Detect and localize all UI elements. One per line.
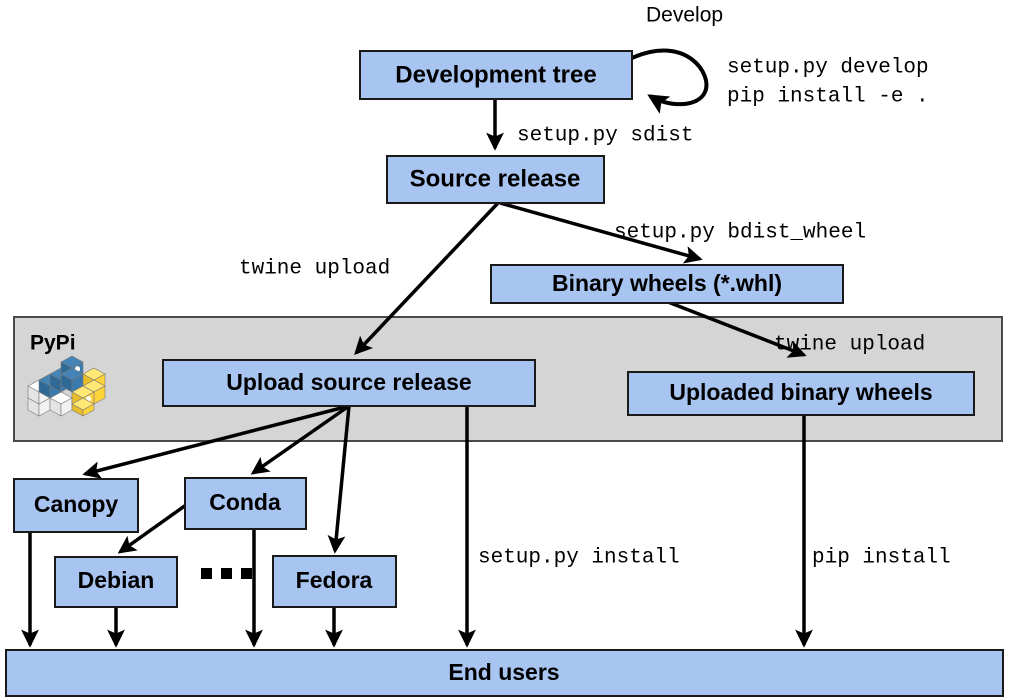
pypi-panel-label: PyPi: [30, 332, 76, 355]
node-conda[interactable]: Conda: [185, 478, 306, 529]
node-end-users[interactable]: End users: [6, 650, 1003, 696]
node-uploaded-binary-wheels-label: Uploaded binary wheels: [669, 379, 932, 405]
node-upload-source-release[interactable]: Upload source release: [163, 360, 535, 406]
ellipsis-indicator: [201, 568, 252, 579]
edge-label-setup-py-sdist: setup.py sdist: [517, 125, 693, 148]
node-end-users-label: End users: [448, 659, 559, 685]
node-canopy-label: Canopy: [34, 491, 119, 517]
diagram-canvas: PyPi: [0, 0, 1009, 698]
node-conda-label: Conda: [209, 489, 281, 515]
node-development-tree[interactable]: Development tree: [360, 51, 632, 99]
node-uploaded-binary-wheels[interactable]: Uploaded binary wheels: [628, 372, 974, 415]
node-source-release[interactable]: Source release: [387, 156, 604, 203]
edge-label-twine-upload-wheels: twine upload: [774, 334, 925, 357]
edge-label-pip-install: pip install: [812, 547, 951, 570]
node-binary-wheels-label: Binary wheels (*.whl): [552, 270, 782, 296]
edge-label-develop: Develop: [646, 4, 723, 27]
packaging-flow-diagram: PyPi: [0, 0, 1009, 698]
edge-label-twine-upload-source: twine upload: [239, 258, 390, 281]
edge-label-setup-py-install: setup.py install: [478, 547, 680, 570]
edge-label-pip-install-editable: pip install -e .: [727, 86, 929, 109]
node-fedora[interactable]: Fedora: [273, 556, 396, 607]
node-canopy[interactable]: Canopy: [14, 479, 138, 532]
edge-develop-selfloop: [632, 51, 706, 105]
node-binary-wheels[interactable]: Binary wheels (*.whl): [491, 265, 843, 303]
node-development-tree-label: Development tree: [395, 61, 596, 88]
edge-label-setup-py-develop: setup.py develop: [727, 57, 929, 80]
node-upload-source-release-label: Upload source release: [226, 369, 471, 395]
edge-label-setup-py-bdist-wheel: setup.py bdist_wheel: [614, 222, 866, 245]
node-debian[interactable]: Debian: [55, 557, 177, 607]
node-source-release-label: Source release: [410, 165, 581, 192]
node-fedora-label: Fedora: [296, 567, 373, 593]
node-debian-label: Debian: [78, 567, 155, 593]
